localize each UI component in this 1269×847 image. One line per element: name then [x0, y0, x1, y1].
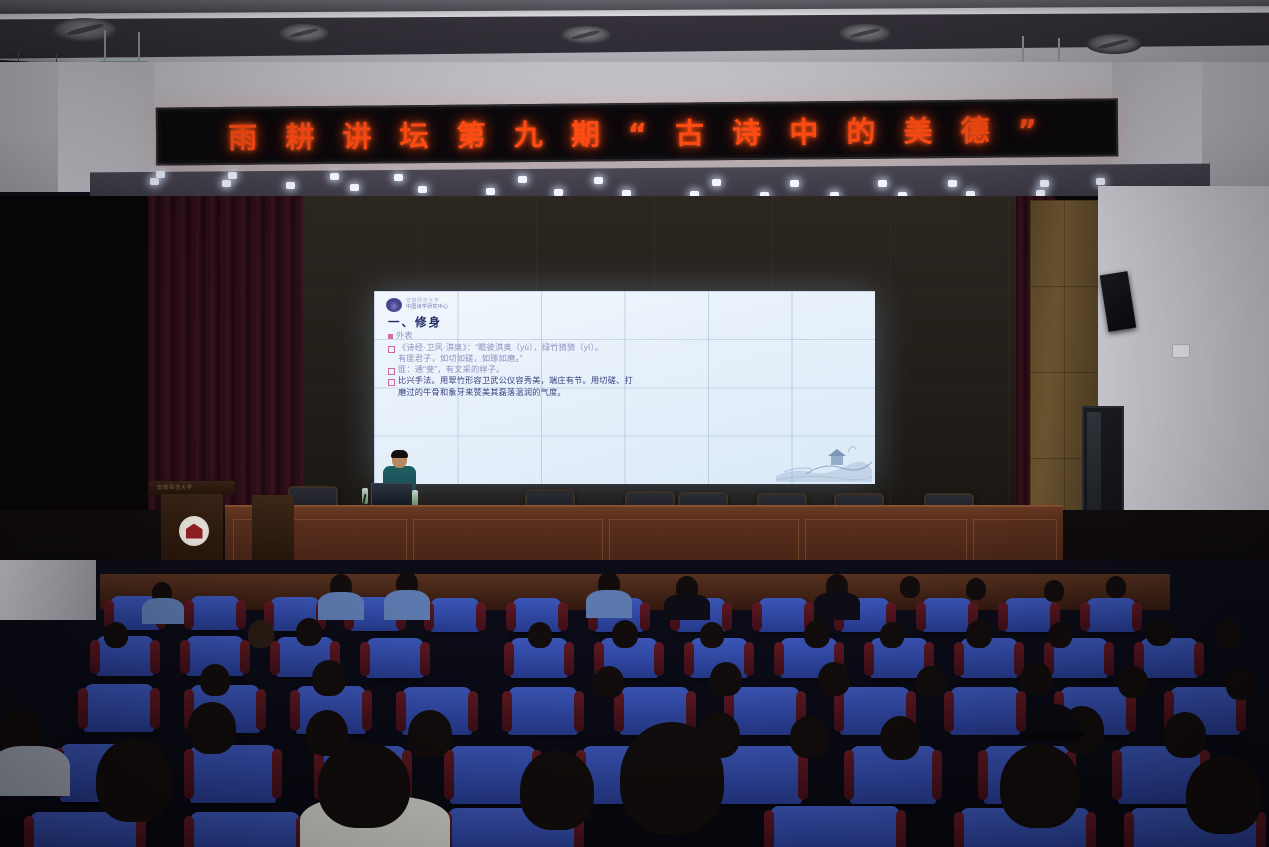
university-emblem-icon	[386, 298, 402, 312]
cap-brim	[1022, 732, 1084, 741]
head-table-panel-5	[973, 519, 1057, 565]
light-switch-plate[interactable]	[1172, 344, 1190, 358]
stage-side-cabinet	[252, 495, 294, 567]
slide-bullet-3-cont: 磨过的牛骨和象牙来赞美其磊落温润的气度。	[398, 388, 867, 399]
slide-logo: 安徽师范大学 中国诗学研究中心	[386, 296, 867, 313]
slide-bullet-0-text: 外表	[396, 331, 413, 342]
slide-bullet-1-text: 《诗经·卫风·淇奥》：“瞻彼淇奥（yù），绿竹猗猗（yī）。	[398, 343, 603, 354]
slide-bullet-0: 外表	[388, 331, 867, 342]
bullet-hollow-square-icon-3	[388, 379, 395, 386]
ceiling-vent-mid-right	[838, 24, 892, 43]
ink-painting-decoration	[776, 422, 872, 482]
slide-org-line2: 中国诗学研究中心	[406, 305, 448, 310]
water-bottle-2	[412, 490, 418, 506]
led-banner-text: 雨 耕 讲 坛 第 九 期 “ 古 诗 中 的 美 德 ”	[228, 107, 1046, 157]
head-table-panel-3	[609, 519, 799, 565]
slide-bullet-1: 《诗经·卫风·淇奥》：“瞻彼淇奥（yù），绿竹猗猗（yī）。	[388, 343, 867, 354]
led-banner: 雨 耕 讲 坛 第 九 期 “ 古 诗 中 的 美 德 ”	[156, 98, 1119, 165]
exit-sign-left-stem-a	[104, 30, 106, 64]
ceiling-vent-right	[1086, 34, 1142, 54]
bullet-hollow-square-icon	[388, 346, 395, 353]
podium-body	[161, 494, 223, 569]
presentation-slide: 安徽师范大学 中国诗学研究中心 一、修身 外表 《诗经·卫风·淇奥》：“瞻彼淇奥…	[374, 291, 875, 484]
bullet-square-icon	[388, 334, 393, 339]
left-wall-lower	[0, 560, 96, 620]
stage-curtain-left	[148, 196, 303, 526]
podium: 安徽师范大学	[155, 481, 229, 569]
led-video-wall: 安徽师范大学 中国诗学研究中心 一、修身 外表 《诗经·卫风·淇奥》：“瞻彼淇奥…	[374, 291, 875, 484]
ceiling-vent-mid	[560, 26, 612, 44]
slide-heading: 一、修身	[388, 314, 867, 330]
head-table-panel-2	[413, 519, 603, 565]
podium-top: 安徽师范大学	[149, 481, 235, 495]
ceiling-vent-left	[52, 18, 118, 42]
exit-sign-left-stem-b	[138, 32, 140, 64]
podium-label: 安徽师范大学	[157, 484, 193, 491]
slide-bullet-2: 匪：通“斐”，有文采的样子。	[388, 365, 867, 376]
auditorium-photo: EXIT EXIT 雨 耕 讲 坛 第 九 期 “ 古 诗 中 的 美 德 ”	[0, 0, 1269, 847]
presenter-laptop	[371, 483, 413, 506]
slide-bullet-3: 比兴手法。用翠竹形容卫武公仪容秀美，端庄有节。用切磋、打	[388, 376, 867, 387]
audience-area	[0, 560, 1269, 847]
bullet-hollow-square-icon-2	[388, 368, 395, 375]
head-table-panel-4	[805, 519, 967, 565]
slide-bullet-1-cont: 有匪君子，如切如磋，如琢如磨。”	[398, 354, 867, 365]
university-crest-icon	[179, 516, 209, 546]
ceiling-vent-mid-left	[278, 24, 330, 43]
slide-bullet-3-text: 比兴手法。用翠竹形容卫武公仪容秀美，端庄有节。用切磋、打	[398, 376, 633, 387]
slide-bullet-2-text: 匪：通“斐”，有文采的样子。	[398, 365, 505, 376]
